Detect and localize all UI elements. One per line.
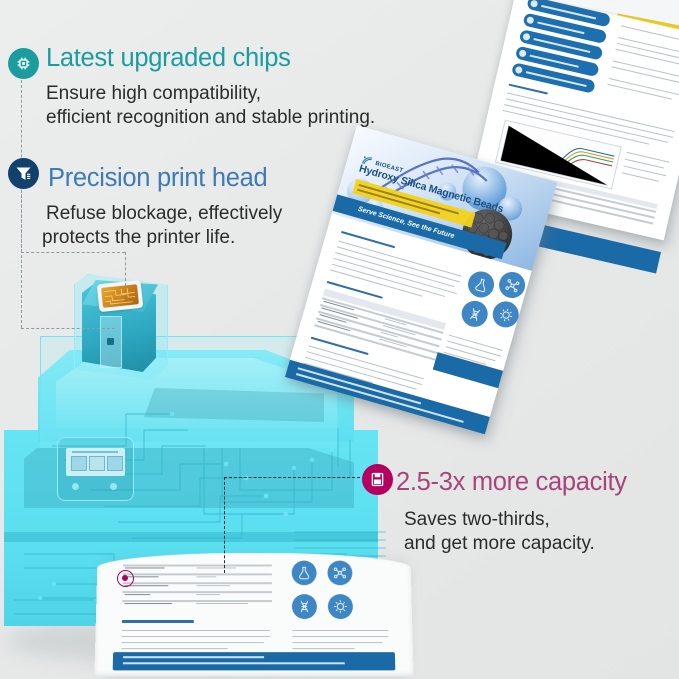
body-line <box>121 642 264 643</box>
brochure-icon-lab-flask <box>465 268 497 300</box>
callout-chips-heading: Latest upgraded chips <box>46 44 291 73</box>
brochure-back-section-specification <box>509 84 548 95</box>
brochure-application-paragraph-right <box>449 335 503 350</box>
callout-capacity-body-line-2: and get more capacity. <box>404 532 595 557</box>
capacity-target-marker <box>117 570 134 587</box>
ink-cartridge-icon <box>362 464 393 495</box>
printer-control-panel[interactable] <box>57 437 134 501</box>
body-line <box>332 264 446 298</box>
control-panel-screen[interactable] <box>66 448 125 476</box>
advantage-pill-label <box>526 71 587 86</box>
cartridge-nozzle-port <box>107 338 114 345</box>
application-icon-molecule <box>327 561 352 586</box>
control-panel-button-right[interactable] <box>110 483 117 490</box>
leader-line-capacity-horizontal <box>224 477 360 478</box>
ink-cartridge <box>66 266 186 392</box>
table-value <box>196 567 236 568</box>
table-value <box>196 585 230 586</box>
screen-tile-3[interactable] <box>107 456 123 471</box>
table-row <box>123 565 272 567</box>
printed-output-sheet <box>96 552 412 679</box>
brochure-section-product-description <box>341 231 395 248</box>
leader-line-printhead-vertical <box>21 190 22 328</box>
table-row <box>123 573 272 575</box>
screen-tile-1[interactable] <box>71 456 87 471</box>
callout-capacity-body-line-1: Saves two-thirds, <box>404 508 550 533</box>
body-line <box>122 630 270 631</box>
table-value <box>196 603 248 604</box>
brochure-icon-molecule <box>496 269 528 301</box>
footer-address-line <box>123 662 345 664</box>
table-row <box>122 591 271 593</box>
brochure-icon-dna-helix <box>459 298 491 330</box>
cartridge-chip <box>97 280 144 312</box>
leader-line-chips-drop <box>125 252 126 286</box>
leader-line-printhead-horizontal <box>21 328 115 329</box>
footer-contact-line <box>123 656 264 658</box>
table-row <box>122 600 272 602</box>
chip-contact-traces <box>101 284 139 308</box>
table-label <box>125 567 165 568</box>
body-line <box>292 636 388 637</box>
brochure-front-paper: BIOEAST Hydroxy Silica Magnetic Beads Se… <box>285 125 557 434</box>
table-label <box>125 585 169 586</box>
brochure-front-page: BIOEAST Hydroxy Silica Magnetic Beads Se… <box>283 125 566 443</box>
table-label <box>124 603 172 604</box>
table-label <box>124 594 150 595</box>
advantage-pill-icon <box>530 0 538 8</box>
advantage-pill-icon <box>526 16 534 24</box>
advantage-pill-icon <box>518 49 526 57</box>
body-line <box>121 648 228 649</box>
body-line <box>292 642 382 643</box>
callout-printhead-heading: Precision print head <box>48 164 267 193</box>
application-icon-virus <box>328 594 353 619</box>
target-marker-dot <box>122 575 128 581</box>
body-line <box>292 630 388 631</box>
legend-entry <box>622 172 659 182</box>
control-panel-button-left[interactable] <box>72 483 79 490</box>
callout-chips-body-line-1: Ensure high compatibility, <box>46 82 261 107</box>
table-value <box>196 576 216 577</box>
printed-sheet-footer-band <box>113 652 396 670</box>
brochure-back-bullets <box>621 25 679 42</box>
infographic-canvas: BIOEAST Hydroxy Silica Magnetic Beads Se… <box>0 0 679 679</box>
printed-sheet-section-title <box>122 620 194 623</box>
print-head-funnel-icon <box>8 158 39 189</box>
callout-chips-body-line-2: efficient recognition and stable printin… <box>46 106 375 131</box>
brochure-parameters-table <box>313 289 446 366</box>
printed-sheet-paper <box>94 553 413 677</box>
table-row <box>123 582 272 584</box>
advantage-pill-icon <box>515 66 523 74</box>
body-line <box>621 25 679 43</box>
table-value <box>196 594 220 595</box>
body-line <box>121 636 270 637</box>
application-icon-dna-helix <box>292 594 317 619</box>
microchip-icon <box>8 48 39 79</box>
callout-printhead-body-line-1: Refuse blockage, effectively <box>46 202 282 227</box>
printed-sheet-table <box>122 563 272 608</box>
brochure-front-accent-block <box>433 352 503 388</box>
brochure-back-chart-legend <box>627 152 670 162</box>
advantage-pill-label <box>530 55 579 68</box>
application-icon-lab-flask <box>292 561 317 586</box>
callout-capacity-heading: 2.5-3x more capacity <box>396 468 627 497</box>
screen-tile-2[interactable] <box>89 456 105 471</box>
leader-line-chips-horizontal <box>21 252 125 253</box>
advantage-pill-icon <box>522 33 530 41</box>
leader-line-capacity-vertical <box>224 477 225 573</box>
callout-printhead-body-line-2: protects the printer life. <box>42 226 235 251</box>
body-line <box>292 648 354 649</box>
advantage-pill-label <box>537 21 584 33</box>
screen-title-line <box>72 451 118 453</box>
